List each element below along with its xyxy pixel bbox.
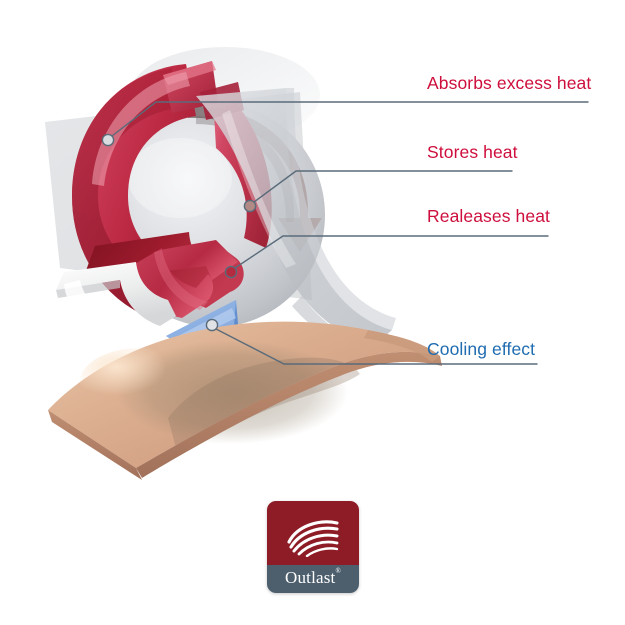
- outlast-logo: Outlast®: [267, 501, 359, 593]
- logo-top-panel: [267, 501, 359, 565]
- logo-wordmark: Outlast®: [285, 568, 341, 588]
- callout-label-stores-heat: Stores heat: [427, 144, 518, 162]
- callout-label-cooling-effect: Cooling effect: [427, 341, 535, 359]
- logo-wordmark-text: Outlast: [285, 568, 336, 587]
- outlast-swoosh-icon: [285, 517, 341, 557]
- callout-label-realeases-heat: Realeases heat: [427, 208, 550, 226]
- logo-bottom-panel: Outlast®: [267, 565, 359, 593]
- skin-substrate-surface: [48, 322, 442, 480]
- logo-registered-mark: ®: [335, 567, 341, 575]
- callout-label-absorbs-excess-heat: Absorbs excess heat: [427, 75, 591, 93]
- diagram-canvas: Absorbs excess heat Stores heat Realease…: [0, 0, 625, 625]
